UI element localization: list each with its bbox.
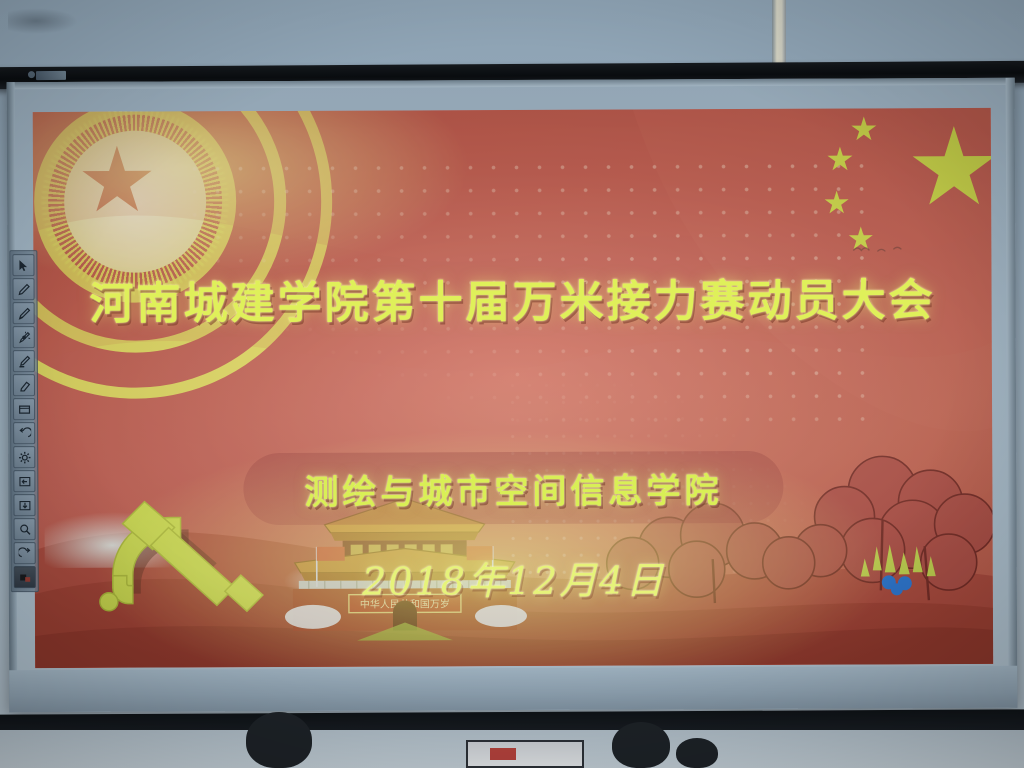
subtitle-pill: 测绘与城市空间信息学院 [243, 451, 783, 525]
redo-button[interactable] [14, 542, 36, 564]
marker-icon [17, 307, 30, 320]
magnifier-icon [18, 523, 31, 536]
interactive-whiteboard: 中华人民共和国万岁 [7, 78, 1018, 712]
gear-icon [18, 451, 31, 464]
highlighter-icon [17, 355, 30, 368]
rectangle-icon [18, 403, 31, 416]
slide-date: 2018年12月4日 [35, 548, 993, 607]
eraser-tool-button[interactable] [13, 374, 35, 396]
birds-icon [851, 242, 911, 256]
shape-tool-button[interactable] [13, 398, 35, 420]
eraser-icon [17, 379, 30, 392]
slide-subtitle: 测绘与城市空间信息学院 [304, 463, 722, 514]
podium-monitor [466, 740, 584, 768]
arrow-down-icon [18, 499, 31, 512]
pen-icon [17, 283, 30, 296]
flag-large-star-icon [911, 126, 993, 212]
brand-badge-icon [36, 71, 66, 80]
chinese-flag-stars [775, 114, 986, 265]
cursor-select-tool-button[interactable] [12, 254, 34, 276]
flag-small-star-icon-2 [827, 147, 853, 173]
magic-pen-tool-button[interactable] [13, 326, 35, 348]
slide-title: 河南城建学院第十届万米接力赛动员大会 [33, 264, 991, 332]
whiteboard-toolbar[interactable] [9, 250, 38, 592]
highlighter-tool-button[interactable] [13, 350, 35, 372]
color-swatch-icon [18, 571, 31, 584]
audience-head-silhouette [246, 712, 312, 768]
zoom-button[interactable] [14, 518, 36, 540]
frame-bottom-edge [9, 666, 1017, 712]
pen-tool-button[interactable] [12, 278, 34, 300]
next-page-button[interactable] [13, 494, 35, 516]
undo-button[interactable] [13, 422, 35, 444]
previous-page-button[interactable] [13, 470, 35, 492]
frame-right-edge [1006, 78, 1018, 708]
wall-seam [772, 0, 786, 68]
magic-pen-icon [17, 331, 30, 344]
flag-small-star-icon-3 [824, 191, 849, 216]
flag-small-star-icon-1 [851, 116, 877, 142]
color-swatch-button[interactable] [14, 566, 36, 588]
classroom-scene: 中华人民共和国万岁 [0, 0, 1024, 768]
redo-icon [18, 547, 31, 560]
cursor-icon [17, 259, 30, 272]
marker-tool-button[interactable] [13, 302, 35, 324]
arrow-left-icon [18, 475, 31, 488]
undo-icon [18, 427, 31, 440]
projected-slide: 中华人民共和国万岁 [33, 108, 993, 668]
audience-head-silhouette [676, 738, 718, 768]
settings-button[interactable] [13, 446, 35, 468]
wall-smudge [8, 8, 78, 34]
audience-head-silhouette [612, 722, 670, 768]
